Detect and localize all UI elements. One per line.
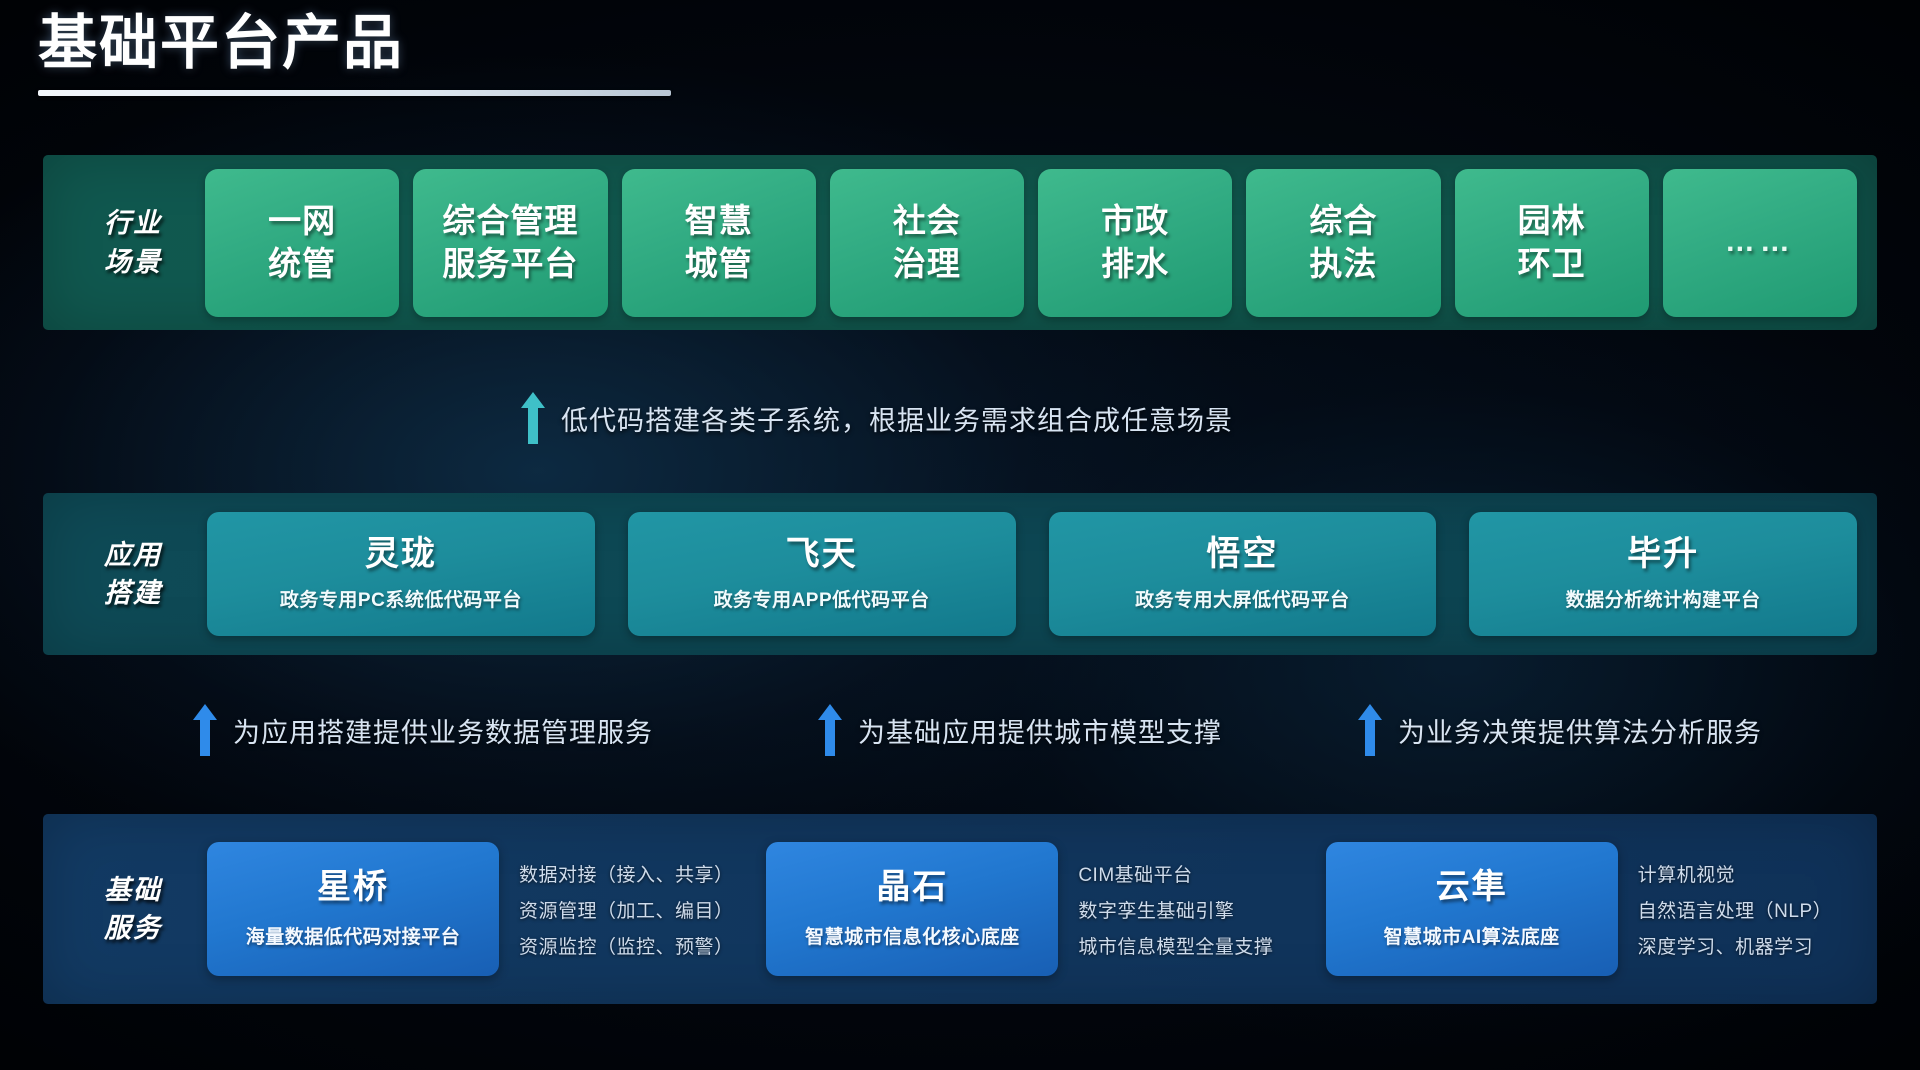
industry-scenario-label-line2: 场景	[69, 243, 197, 281]
scenario-card-line2: 统管	[268, 243, 336, 285]
connector-scene-text: 低代码搭建各类子系统，根据业务需求组合成任意场景	[561, 399, 1233, 438]
basic-service-label: 基础 服务	[69, 871, 197, 948]
up-arrow-icon	[521, 392, 545, 444]
industry-scenario-label: 行业 场景	[69, 204, 197, 281]
industry-scenario-card-list: 一网 统管 综合管理 服务平台 智慧 城管 社会 治理 市政 排水 综合 执法	[197, 169, 1877, 317]
basic-service-label-line1: 基础	[69, 871, 197, 909]
application-card-subtitle: 政务专用大屏低代码平台	[1135, 585, 1350, 612]
scenario-card-shizheng-paishui[interactable]: 市政 排水	[1038, 169, 1232, 317]
scenario-card-line1: 综合管理	[442, 200, 578, 242]
application-card-bisheng[interactable]: 毕升 数据分析统计构建平台	[1469, 512, 1857, 636]
scenario-card-ellipsis-label: ……	[1725, 223, 1795, 261]
scenario-card-line1: 社会	[893, 200, 961, 242]
basic-service-band: 基础 服务 星桥 海量数据低代码对接平台 数据对接（接入、共享） 资源管理（加工…	[43, 814, 1877, 1004]
scenario-card-line2: 城管	[685, 243, 753, 285]
application-build-label-line2: 搭建	[69, 574, 197, 612]
scenario-card-zhihui-chengguan[interactable]: 智慧 城管	[622, 169, 816, 317]
application-build-band: 应用 搭建 灵珑 政务专用PC系统低代码平台 飞天 政务专用APP低代码平台 悟…	[43, 493, 1877, 655]
application-card-subtitle: 数据分析统计构建平台	[1566, 585, 1761, 612]
basic-service-feature: 数字孪生基础引擎	[1078, 896, 1299, 923]
scenario-card-line1: 综合	[1309, 200, 1377, 242]
title-block: 基础平台产品	[38, 12, 838, 96]
basic-service-card-subtitle: 智慧城市信息化核心底座	[805, 922, 1020, 949]
scenario-card-line2: 执法	[1309, 243, 1377, 285]
application-card-title: 悟空	[1206, 536, 1278, 573]
connector-app-text-2: 为基础应用提供城市模型支撑	[858, 711, 1222, 750]
basic-service-group-xingqiao: 星桥 海量数据低代码对接平台 数据对接（接入、共享） 资源管理（加工、编目） 资…	[207, 842, 740, 976]
scenario-card-yuanlin-huanwei[interactable]: 园林 环卫	[1455, 169, 1649, 317]
application-build-label-line1: 应用	[69, 536, 197, 574]
slide-canvas: 基础平台产品 行业 场景 一网 统管 综合管理 服务平台 智慧 城管 社会 治理	[0, 0, 1920, 1070]
scenario-card-line2: 服务平台	[442, 243, 578, 285]
scenario-card-zonghe-zhifa[interactable]: 综合 执法	[1246, 169, 1440, 317]
application-card-subtitle: 政务专用PC系统低代码平台	[280, 585, 522, 612]
connector-scene-from-app: 低代码搭建各类子系统，根据业务需求组合成任意场景	[521, 392, 1233, 444]
scenario-card-line1: 园林	[1518, 200, 1586, 242]
scenario-card-line2: 排水	[1101, 243, 1169, 285]
application-card-title: 毕升	[1627, 536, 1699, 573]
connector-app-text-3: 为业务决策提供算法分析服务	[1398, 711, 1762, 750]
up-arrow-icon	[1358, 704, 1382, 756]
connector-app-from-yunsun: 为业务决策提供算法分析服务	[1358, 704, 1762, 756]
basic-service-feature: 城市信息模型全量支撑	[1078, 932, 1299, 959]
basic-service-label-line2: 服务	[69, 909, 197, 947]
industry-scenario-band: 行业 场景 一网 统管 综合管理 服务平台 智慧 城管 社会 治理 市政 排水	[43, 155, 1877, 330]
scenario-card-line1: 智慧	[685, 200, 753, 242]
scenario-card-line2: 环卫	[1518, 243, 1586, 285]
basic-service-feature-list: CIM基础平台 数字孪生基础引擎 城市信息模型全量支撑	[1076, 860, 1299, 959]
scenario-card-zonghe-guanli-fuwu-pingtai[interactable]: 综合管理 服务平台	[413, 169, 607, 317]
basic-service-feature: 深度学习、机器学习	[1638, 932, 1859, 959]
up-arrow-icon	[193, 704, 217, 756]
basic-service-feature-list: 计算机视觉 自然语言处理（NLP） 深度学习、机器学习	[1636, 860, 1859, 959]
basic-service-card-xingqiao[interactable]: 星桥 海量数据低代码对接平台	[207, 842, 499, 976]
application-card-wukong[interactable]: 悟空 政务专用大屏低代码平台	[1049, 512, 1437, 636]
basic-service-card-subtitle: 海量数据低代码对接平台	[246, 922, 461, 949]
basic-service-feature: 资源监控（监控、预警）	[519, 932, 740, 959]
application-card-subtitle: 政务专用APP低代码平台	[714, 585, 930, 612]
application-card-title: 灵珑	[365, 536, 437, 573]
application-build-label: 应用 搭建	[69, 536, 197, 613]
scenario-card-line2: 治理	[893, 243, 961, 285]
application-card-title: 飞天	[786, 536, 858, 573]
basic-service-card-title: 晶石	[876, 869, 948, 906]
basic-service-feature: CIM基础平台	[1078, 860, 1299, 887]
basic-service-feature-list: 数据对接（接入、共享） 资源管理（加工、编目） 资源监控（监控、预警）	[517, 860, 740, 959]
basic-service-feature: 计算机视觉	[1638, 860, 1859, 887]
scenario-card-line1: 一网	[268, 200, 336, 242]
scenario-card-yiwangtongguan[interactable]: 一网 统管	[205, 169, 399, 317]
basic-service-card-title: 云隼	[1436, 869, 1508, 906]
scenario-card-shehui-zhili[interactable]: 社会 治理	[830, 169, 1024, 317]
application-card-linglong[interactable]: 灵珑 政务专用PC系统低代码平台	[207, 512, 595, 636]
scenario-card-more[interactable]: ……	[1663, 169, 1857, 317]
connector-app-from-jingshi: 为基础应用提供城市模型支撑	[818, 704, 1222, 756]
application-card-feitian[interactable]: 飞天 政务专用APP低代码平台	[628, 512, 1016, 636]
connector-app-text-1: 为应用搭建提供业务数据管理服务	[233, 711, 653, 750]
basic-service-feature: 数据对接（接入、共享）	[519, 860, 740, 887]
basic-service-group-yunsun: 云隼 智慧城市AI算法底座 计算机视觉 自然语言处理（NLP） 深度学习、机器学…	[1326, 842, 1859, 976]
application-card-list: 灵珑 政务专用PC系统低代码平台 飞天 政务专用APP低代码平台 悟空 政务专用…	[197, 512, 1877, 636]
basic-service-group-jingshi: 晶石 智慧城市信息化核心底座 CIM基础平台 数字孪生基础引擎 城市信息模型全量…	[766, 842, 1299, 976]
basic-service-card-jingshi[interactable]: 晶石 智慧城市信息化核心底座	[766, 842, 1058, 976]
industry-scenario-label-line1: 行业	[69, 204, 197, 242]
basic-service-group-list: 星桥 海量数据低代码对接平台 数据对接（接入、共享） 资源管理（加工、编目） 资…	[197, 842, 1877, 976]
up-arrow-icon	[818, 704, 842, 756]
page-title: 基础平台产品	[38, 12, 838, 76]
basic-service-feature: 自然语言处理（NLP）	[1638, 896, 1859, 923]
scenario-card-line1: 市政	[1101, 200, 1169, 242]
basic-service-feature: 资源管理（加工、编目）	[519, 896, 740, 923]
basic-service-card-subtitle: 智慧城市AI算法底座	[1384, 922, 1560, 949]
connector-app-from-xingqiao: 为应用搭建提供业务数据管理服务	[193, 704, 653, 756]
title-underline	[38, 90, 671, 96]
basic-service-card-yunsun[interactable]: 云隼 智慧城市AI算法底座	[1326, 842, 1618, 976]
basic-service-card-title: 星桥	[317, 869, 389, 906]
